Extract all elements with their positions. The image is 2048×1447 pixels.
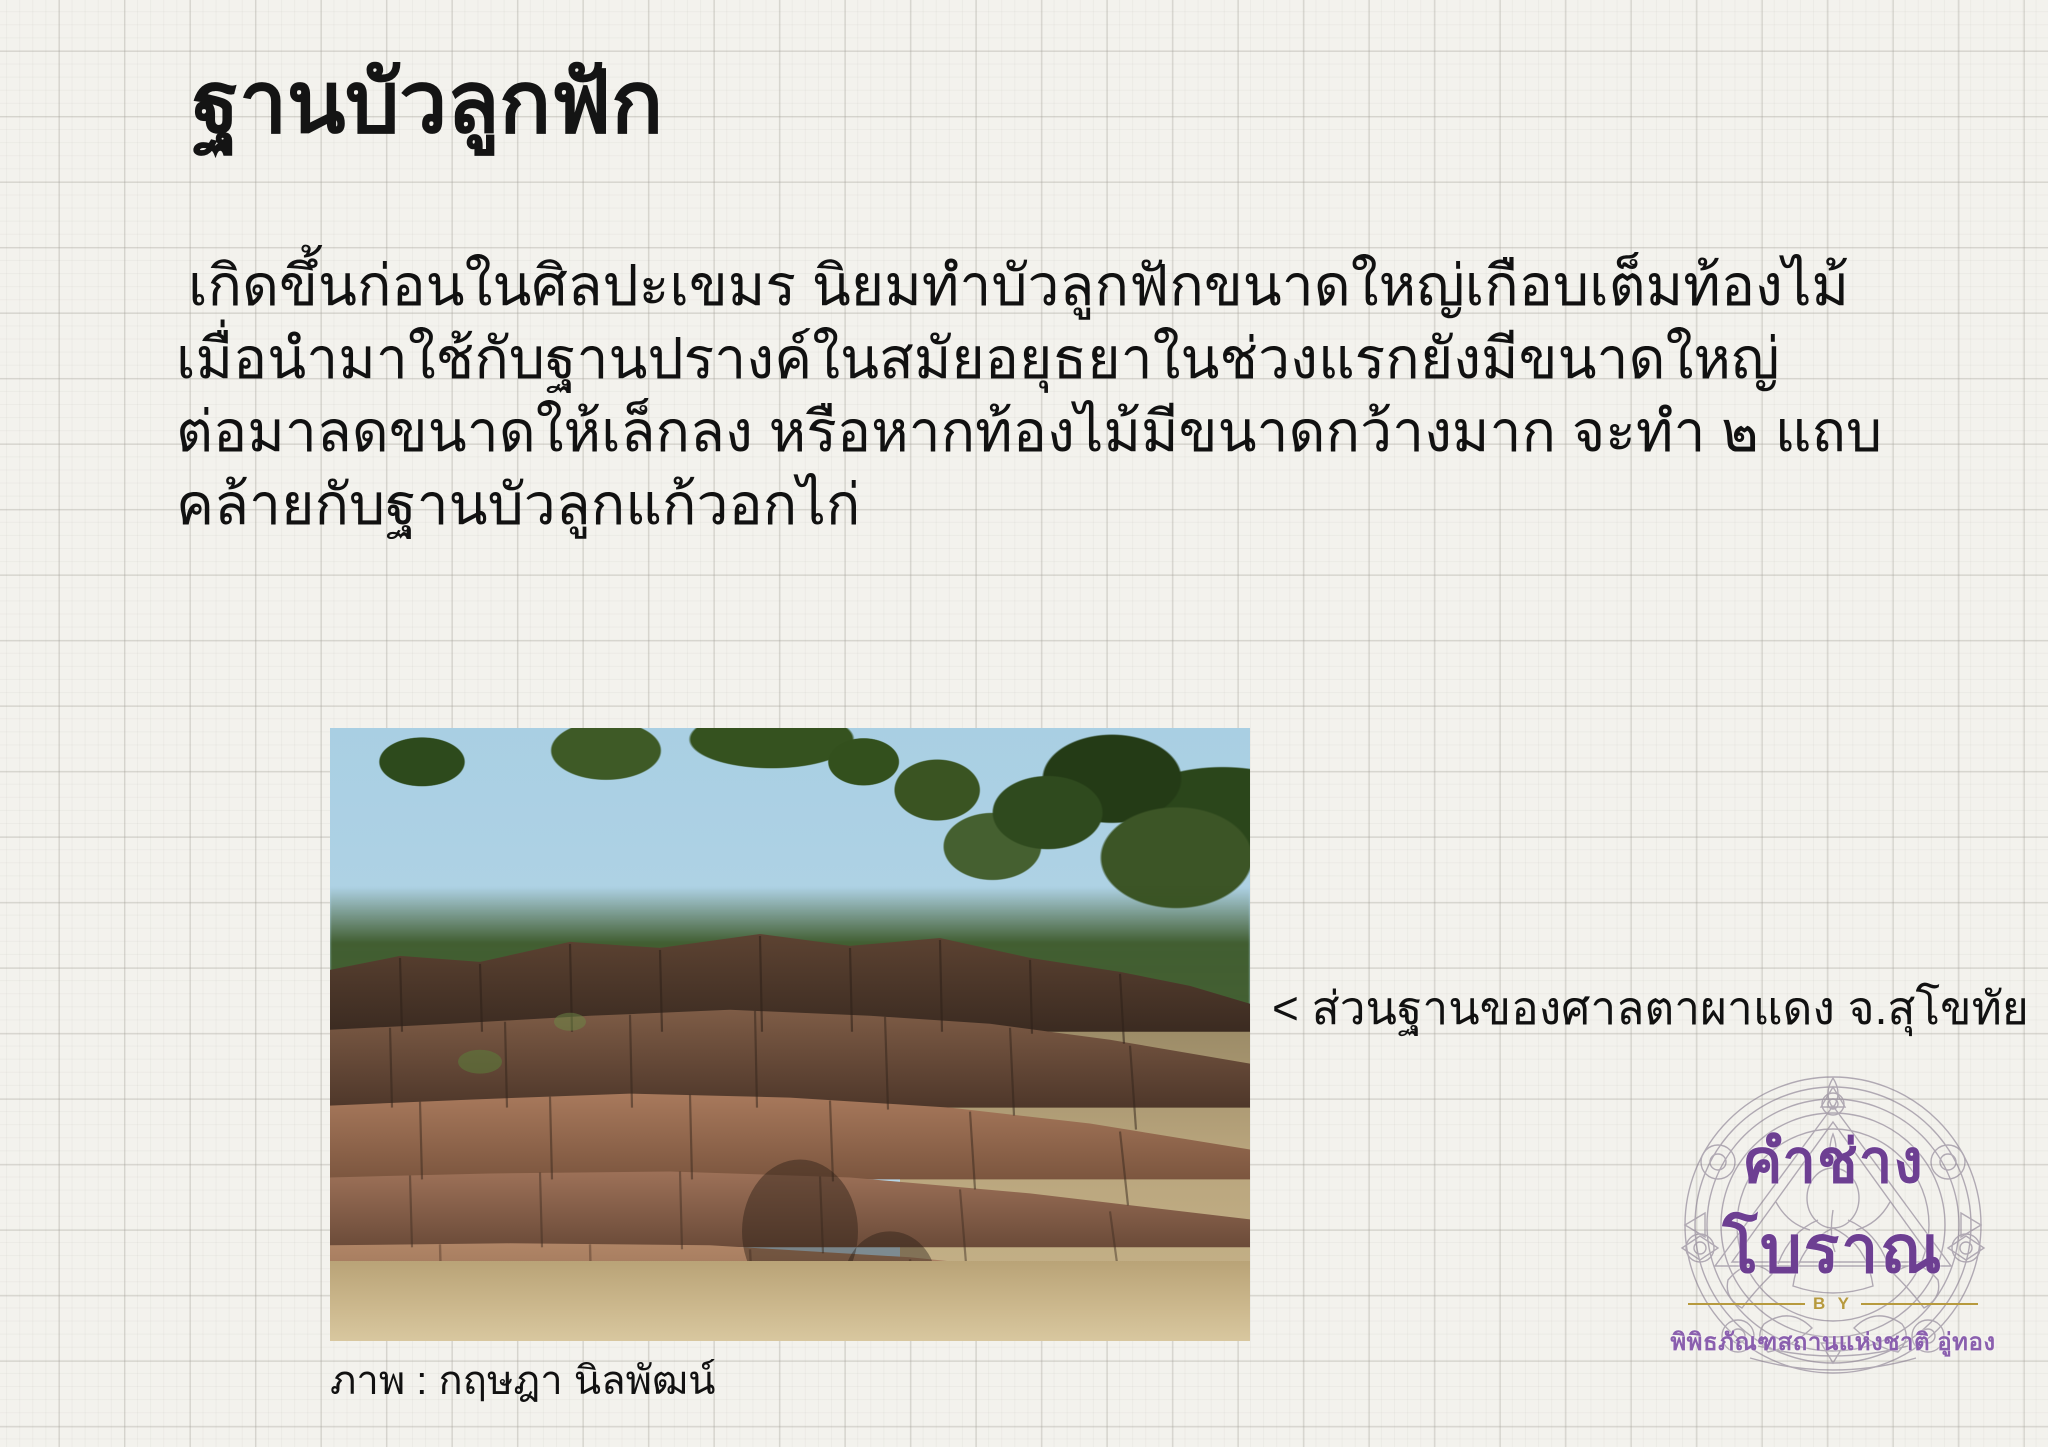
body-line-3: ต่อมาลดขนาดให้เล็กลง หรือหากท้องไม้มีขนา…: [176, 396, 1896, 469]
logo-rule-left: [1688, 1303, 1805, 1305]
logo-rule-right: [1861, 1303, 1978, 1305]
photo-caption-right: < ส่วนฐานของศาลตาผาแดง จ.สุโขทัย: [1272, 972, 2029, 1045]
logo-by-label: B Y: [1813, 1294, 1853, 1314]
museum-logo: คำช่าง โบราณ B Y พิพิธภัณฑสถานแห่งชาติ อ…: [1658, 1070, 2008, 1420]
logo-by-divider: B Y: [1688, 1294, 1978, 1314]
logo-wordmark: คำช่าง โบราณ B Y พิพิธภัณฑสถานแห่งชาติ อ…: [1658, 1070, 2008, 1420]
body-paragraph: เกิดขึ้นก่อนในศิลปะเขมร นิยมทำบัวลูกฟักข…: [176, 250, 1896, 542]
body-line-2: เมื่อนำมาใช้กับฐานปรางค์ในสมัยอยุธยาในช่…: [176, 323, 1896, 396]
photo-frame: [330, 728, 1250, 1341]
logo-subtitle: พิพิธภัณฑสถานแห่งชาติ อู่ทอง: [1670, 1322, 1995, 1361]
page-title: ฐานบัวลูกฟัก: [192, 57, 663, 150]
photo-credit: ภาพ : กฤษฎา นิลพัฒน์: [330, 1348, 715, 1412]
foreground-ground: [330, 1261, 1250, 1341]
body-line-1: เกิดขึ้นก่อนในศิลปะเขมร นิยมทำบัวลูกฟักข…: [176, 250, 1896, 323]
slide-canvas: ฐานบัวลูกฟัก เกิดขึ้นก่อนในศิลปะเขมร นิย…: [0, 0, 2048, 1447]
temple-base-photo: [330, 728, 1250, 1341]
body-line-4: คล้ายกับฐานบัวลูกแก้วอกไก่: [176, 469, 1896, 542]
logo-line-2: โบราณ: [1722, 1216, 1943, 1282]
logo-line-1: คำช่าง: [1742, 1132, 1924, 1192]
